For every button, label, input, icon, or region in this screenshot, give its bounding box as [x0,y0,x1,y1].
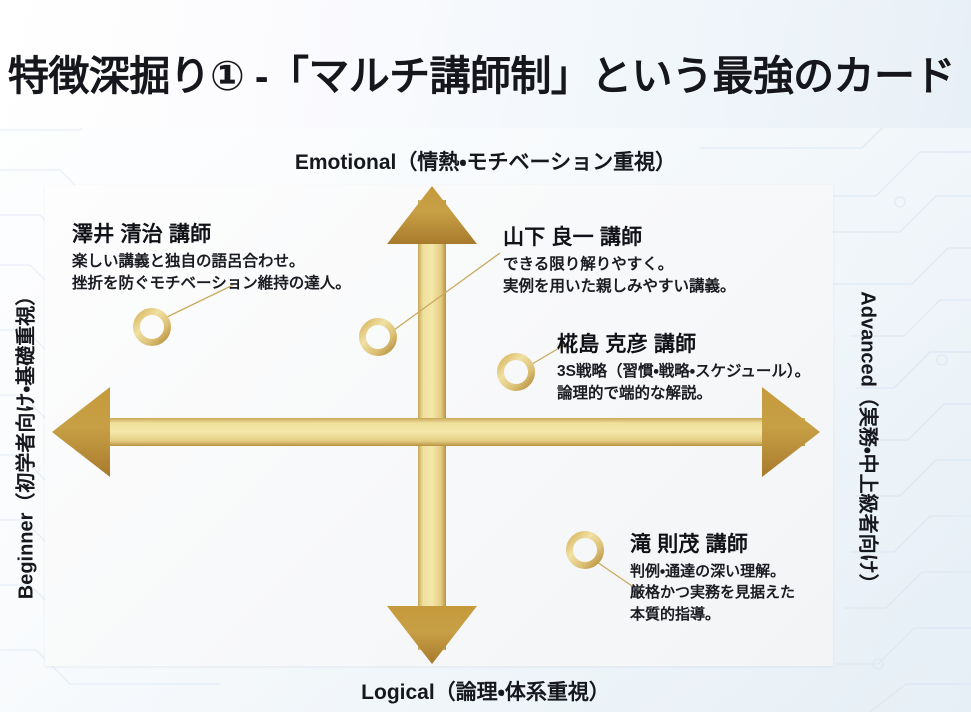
page-title: 特徴深掘り① -「マルチ講師制」という最強のカード [8,50,968,102]
annotation-yamashita[interactable]: 山下 良一 講師 できる限り解りやすく。 実例を用いた親しみやすい講義。 [503,221,736,298]
instructor-desc-line: 本質的指導。 [630,604,795,625]
annotation-kabashima[interactable]: 椛島 克彦 講師 3S戦略（習慣・戦略・スケジュール）。 論理的で端的な解説。 [557,328,810,405]
instructor-desc-line: 判例・通達の深い理解。 [630,561,795,582]
instructor-desc-line: 論理的で端的な解説。 [557,383,810,405]
instructor-desc-line: 楽しい講義と独自の語呂合わせ。 [72,251,351,273]
instructor-name: 滝 則茂 講師 [630,528,795,558]
axis-label-top: Emotional（情熱・モチベーション重視） [0,146,971,176]
instructor-desc-line: 3S戦略（習慣・戦略・スケジュール）。 [557,361,810,383]
axis-label-left: Beginner（初学者向け・基礎重視） [10,233,39,653]
axis-label-bottom: Logical（論理・体系重視） [0,676,971,706]
instructor-name: 澤井 清治 講師 [72,218,351,248]
instructor-name: 山下 良一 講師 [503,221,736,251]
annotation-taki[interactable]: 滝 則茂 講師 判例・通達の深い理解。 厳格かつ実務を見据えた 本質的指導。 [630,528,795,625]
slide-canvas: 特徴深掘り① -「マルチ講師制」という最強のカード Emotional（情熱・モ… [0,0,971,712]
instructor-desc-line: できる限り解りやすく。 [503,254,736,276]
instructor-desc-line: 厳格かつ実務を見据えた [630,582,795,603]
instructor-desc-line: 実例を用いた親しみやすい講義。 [503,276,736,298]
annotation-sawai[interactable]: 澤井 清治 講師 楽しい講義と独自の語呂合わせ。 挫折を防ぐモチベーション維持の… [72,218,351,295]
axis-label-right: Advanced（実務・中上級者向け） [856,233,885,653]
instructor-desc-line: 挫折を防ぐモチベーション維持の達人。 [72,273,351,295]
instructor-name: 椛島 克彦 講師 [557,328,810,358]
